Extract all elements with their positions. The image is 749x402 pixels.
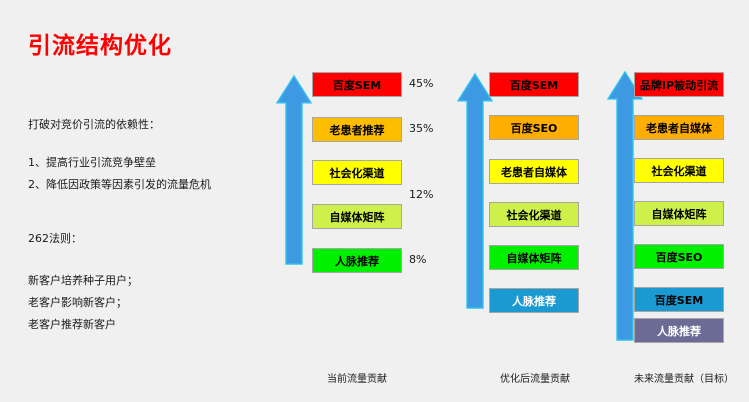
channel-box[interactable]: 品牌IP被动引流 [634, 72, 724, 97]
channel-box[interactable]: 人脉推荐 [312, 248, 402, 273]
column-current-traffic: 百度SEM老患者推荐社会化渠道自媒体矩阵人脉推荐 45%35%12%8% 当前流… [276, 0, 446, 402]
channel-box[interactable]: 自媒体矩阵 [312, 204, 402, 229]
channel-box[interactable]: 百度SEM [489, 72, 579, 97]
column-caption-optimized: 优化后流量贡献 [475, 370, 595, 385]
channel-box[interactable]: 自媒体矩阵 [489, 245, 579, 270]
channel-box[interactable]: 百度SEM [634, 287, 724, 312]
bullet-point-2: 2、降低因政策等因素引发的流量危机 [28, 178, 211, 193]
percent-label: 35% [409, 122, 433, 135]
channel-box[interactable]: 社会化渠道 [489, 202, 579, 227]
up-arrow-icon [276, 74, 312, 266]
rule-heading: 262法则： [28, 232, 82, 247]
channel-box[interactable]: 人脉推荐 [634, 318, 724, 343]
rule-line-3: 老客户推荐新客户 [28, 318, 116, 333]
up-arrow-icon [457, 72, 493, 310]
channel-box[interactable]: 人脉推荐 [489, 288, 579, 313]
slide-canvas: 引流结构优化 打破对竞价引流的依赖性： 1、提高行业引流竞争壁垒 2、降低因政策… [0, 0, 749, 402]
channel-box[interactable]: 社会化渠道 [312, 160, 402, 185]
channel-box[interactable]: 老患者推荐 [312, 117, 402, 142]
channel-box[interactable]: 百度SEM [312, 72, 402, 97]
page-title: 引流结构优化 [28, 34, 278, 59]
channel-box[interactable]: 百度SEO [634, 244, 724, 269]
rule-line-1: 新客户培养种子用户； [28, 274, 138, 289]
column-optimized-traffic: 百度SEM百度SEO老患者自媒体社会化渠道自媒体矩阵人脉推荐 优化后流量贡献 [455, 0, 605, 402]
percent-label: 12% [409, 188, 433, 201]
bullet-point-1: 1、提高行业引流竞争壁垒 [28, 156, 156, 171]
percent-label: 45% [409, 77, 433, 90]
channel-box[interactable]: 自媒体矩阵 [634, 201, 724, 226]
channel-box[interactable]: 社会化渠道 [634, 158, 724, 183]
intro-line: 打破对竞价引流的依赖性： [28, 118, 160, 133]
channel-box[interactable]: 老患者自媒体 [489, 159, 579, 184]
channel-box[interactable]: 百度SEO [489, 115, 579, 140]
left-text-panel: 引流结构优化 打破对竞价引流的依赖性： 1、提高行业引流竞争壁垒 2、降低因政策… [28, 34, 278, 59]
column-future-traffic: 品牌IP被动引流老患者自媒体社会化渠道自媒体矩阵百度SEO百度SEM人脉推荐 未… [605, 0, 749, 402]
percent-label: 8% [409, 253, 426, 266]
channel-box[interactable]: 老患者自媒体 [634, 115, 724, 140]
rule-line-2: 老客户影响新客户； [28, 296, 127, 311]
column-caption-future: 未来流量贡献（目标） [619, 370, 749, 385]
column-caption-current: 当前流量贡献 [312, 370, 402, 385]
